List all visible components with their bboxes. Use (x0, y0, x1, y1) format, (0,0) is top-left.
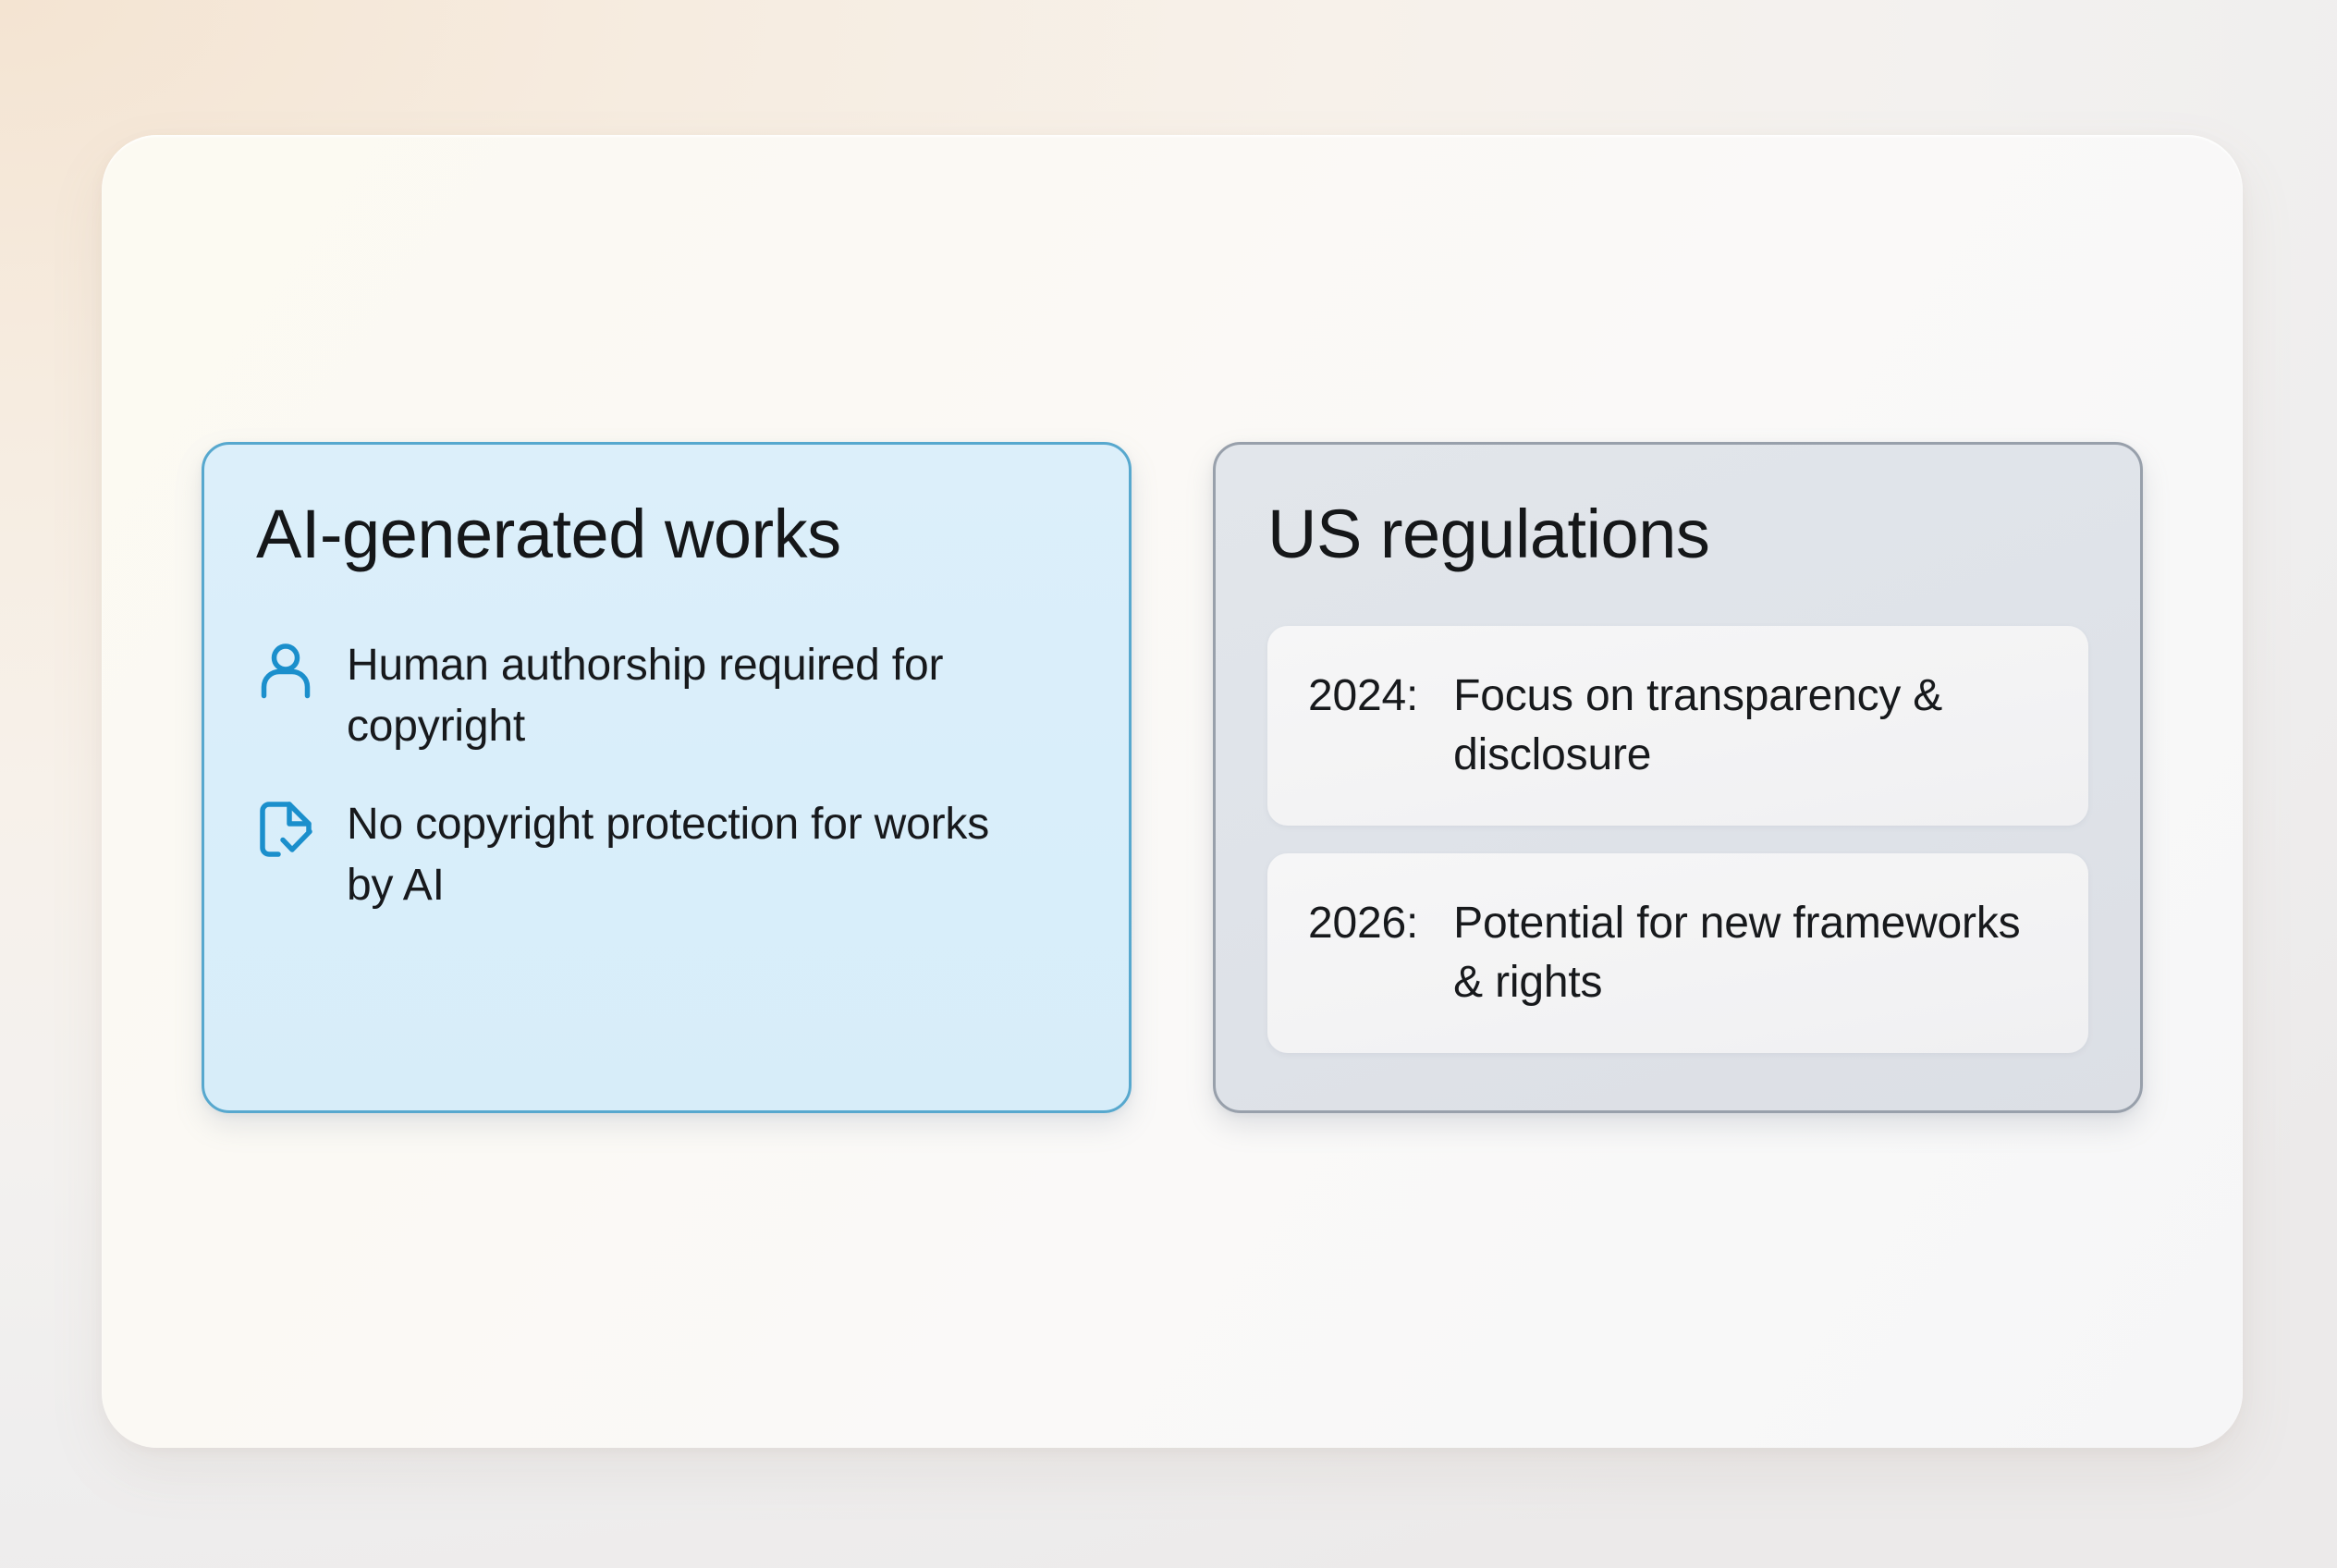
document-check-icon (256, 800, 315, 859)
regulation-year: 2026: (1308, 894, 1418, 953)
feature-text: Human authorship required for copyright (347, 635, 994, 757)
regulation-description: Focus on transparency & disclosure (1453, 667, 2048, 785)
panel-us-regulations[interactable]: US regulations 2024: Focus on transparen… (1213, 442, 2143, 1113)
panel-title-ai-generated-works: AI-generated works (256, 500, 1077, 569)
regulation-description: Potential for new frameworks & rights (1453, 894, 2048, 1012)
list-item[interactable]: Human authorship required for copyright (256, 635, 1077, 757)
list-item[interactable]: 2024: Focus on transparency & disclosure (1267, 626, 2088, 826)
list-item[interactable]: No copyright protection for works by AI (256, 794, 1077, 916)
panel-title-us-regulations: US regulations (1267, 500, 2088, 569)
panel-ai-generated-works[interactable]: AI-generated works Human authorship requ… (202, 442, 1132, 1113)
person-icon (256, 641, 315, 700)
list-item[interactable]: 2026: Potential for new frameworks & rig… (1267, 853, 2088, 1053)
feature-list: Human authorship required for copyright … (256, 635, 1077, 916)
regulation-timeline-list: 2024: Focus on transparency & disclosure… (1267, 626, 2088, 1053)
content-surface-card: AI-generated works Human authorship requ… (102, 135, 2243, 1448)
panels-row: AI-generated works Human authorship requ… (202, 442, 2143, 1126)
regulation-year: 2024: (1308, 667, 1418, 726)
feature-text: No copyright protection for works by AI (347, 794, 994, 916)
wallpaper-canvas: AI-generated works Human authorship requ… (0, 0, 2337, 1568)
